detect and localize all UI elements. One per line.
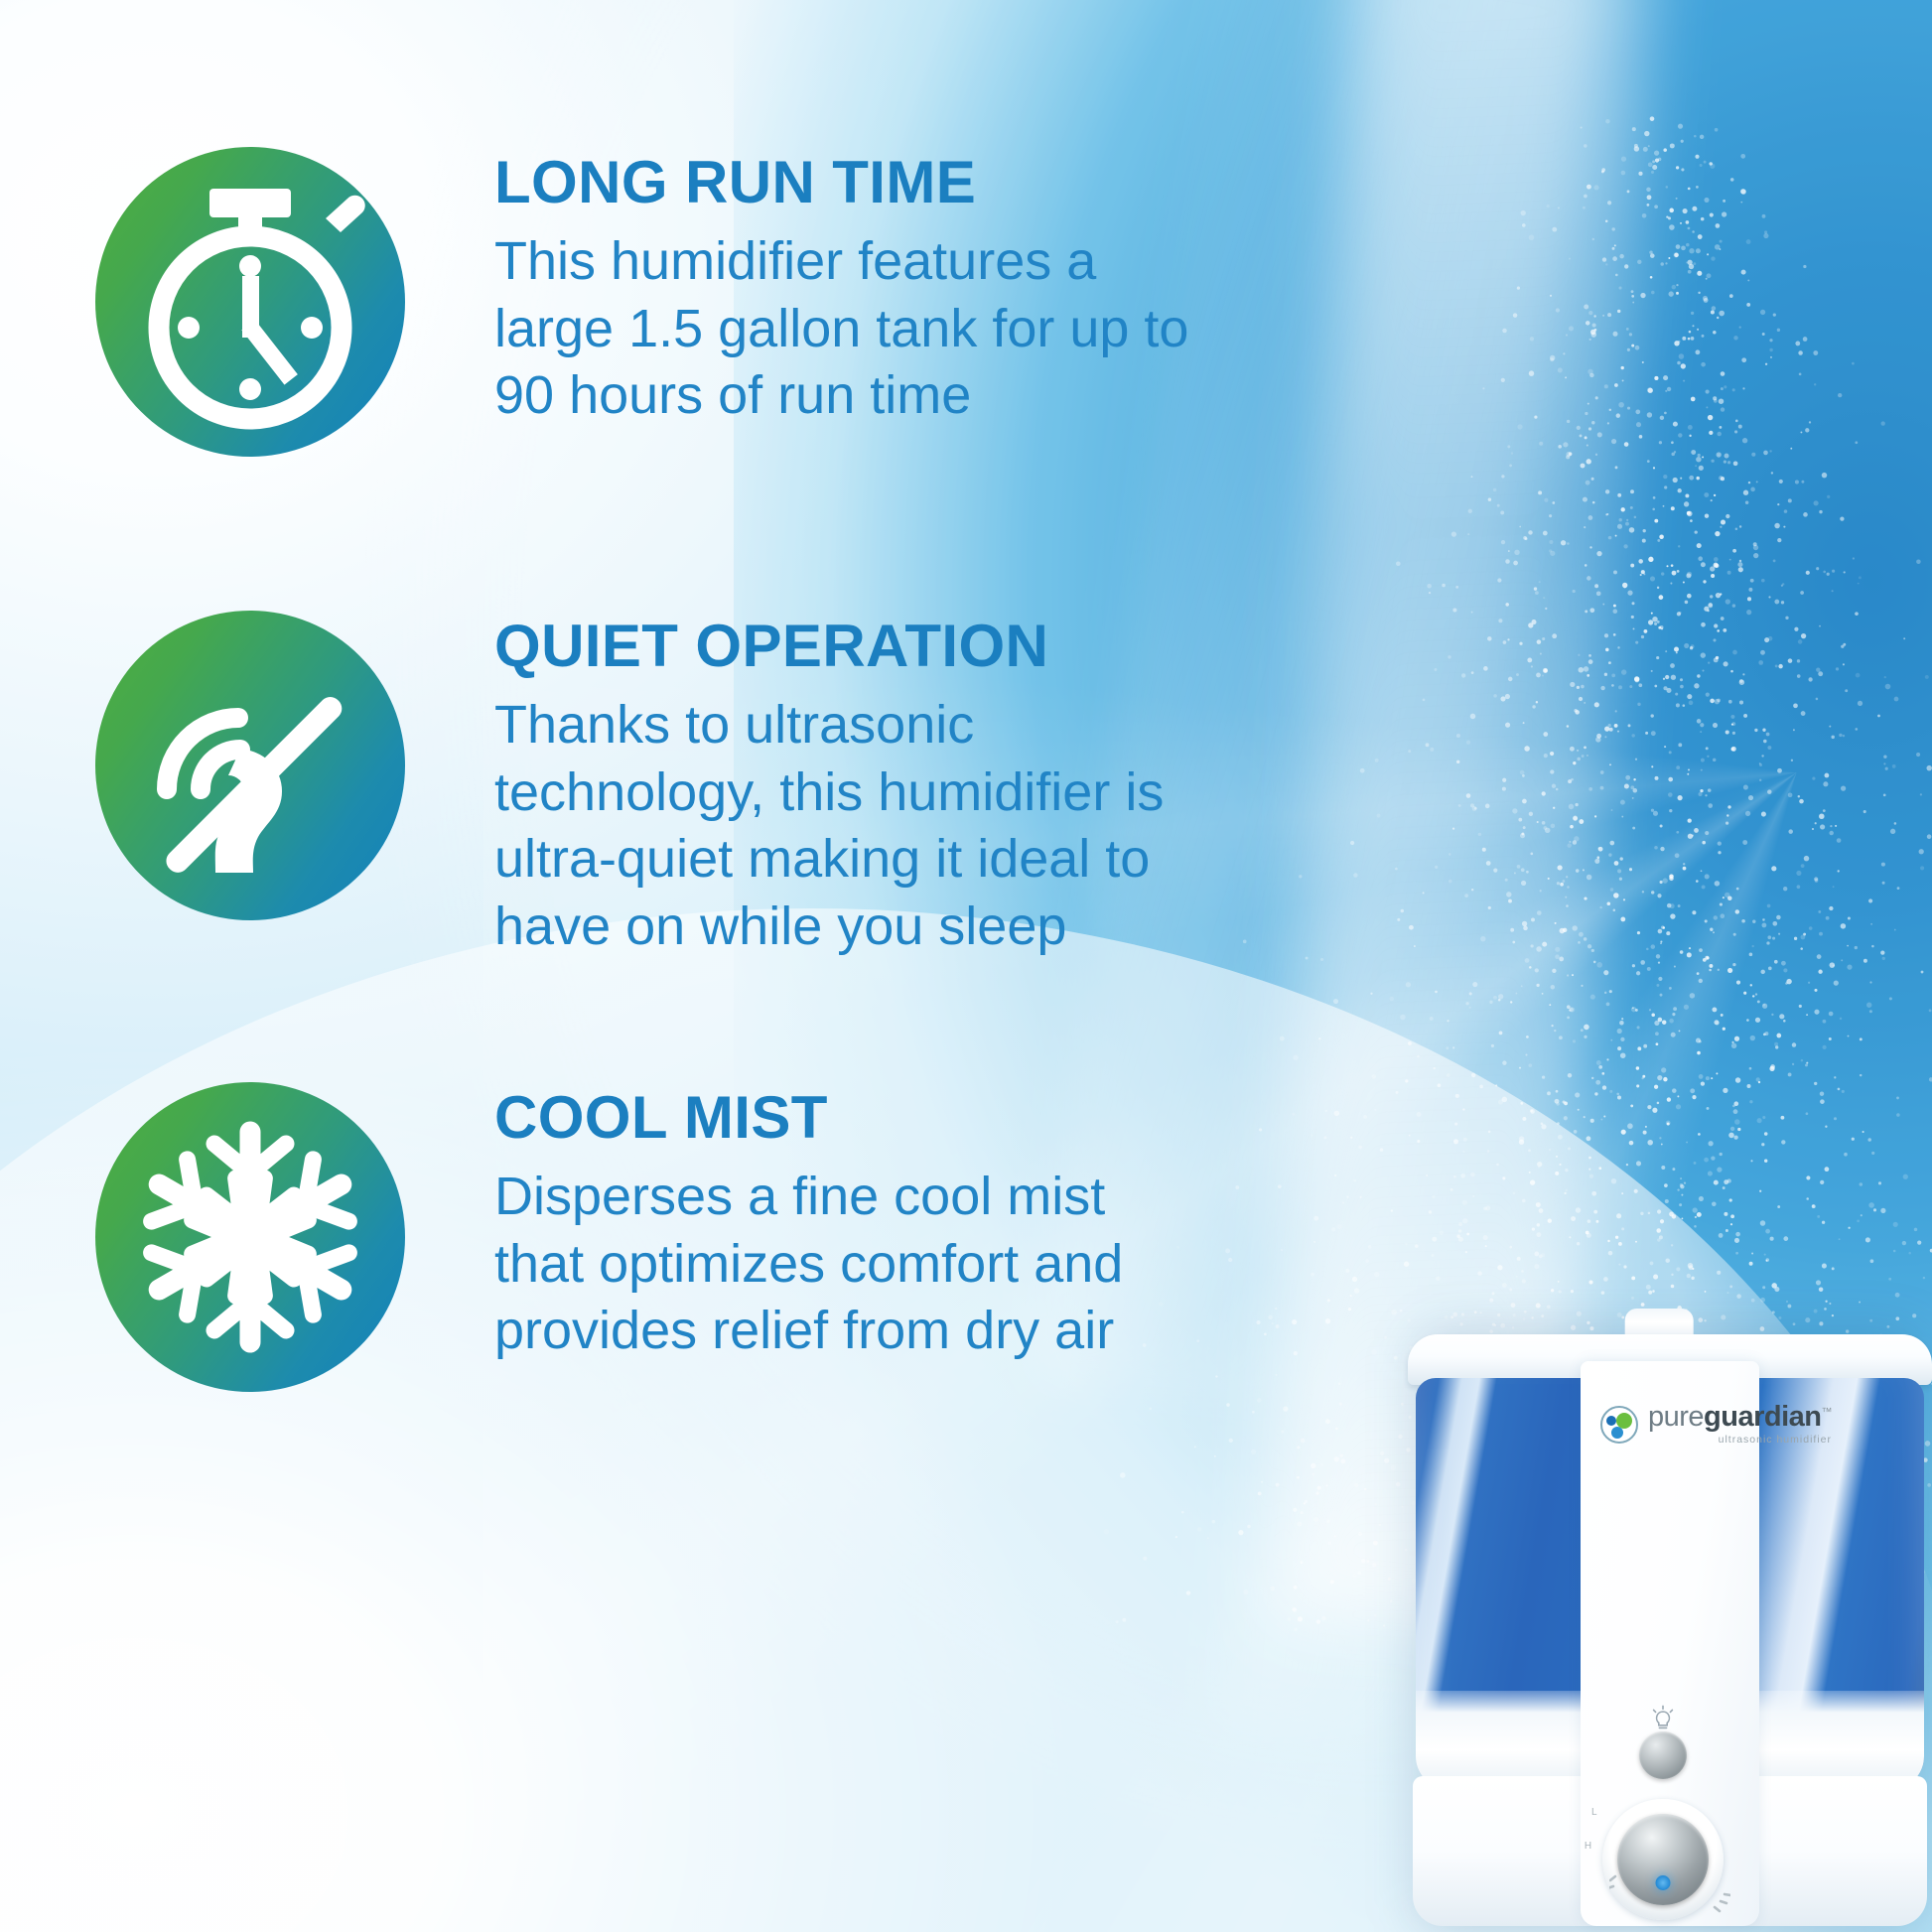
snowflake-icon: [95, 1082, 405, 1392]
brand-logo: pureguardian™ ultrasonic humidifier: [1600, 1403, 1832, 1446]
pureguardian-logo-mark: [1600, 1406, 1638, 1444]
power-led: [1655, 1875, 1670, 1890]
logo-dot-blue: [1611, 1427, 1623, 1439]
brand-trademark: ™: [1821, 1407, 1832, 1419]
feature-body: This humidifier features a large 1.5 gal…: [494, 228, 1209, 430]
brand-prefix: pure: [1648, 1401, 1704, 1433]
feature-body: Disperses a fine cool mist that optimize…: [494, 1164, 1209, 1365]
feature-text-block: COOL MIST Disperses a fine cool mist tha…: [494, 1082, 1209, 1365]
feature-title: LONG RUN TIME: [494, 153, 1209, 212]
feature-text-block: LONG RUN TIME This humidifier features a…: [494, 147, 1209, 430]
feature-text-block: QUIET OPERATION Thanks to ultrasonic tec…: [494, 611, 1209, 960]
light-button[interactable]: [1639, 1731, 1687, 1779]
feature-cool-mist: COOL MIST Disperses a fine cool mist tha…: [95, 1082, 1209, 1392]
brand-suffix: guardian: [1704, 1401, 1821, 1433]
feature-title: QUIET OPERATION: [494, 617, 1209, 676]
knob-tick-marks: [1609, 1799, 1730, 1920]
knob-min-label: L: [1591, 1807, 1597, 1818]
control-panel: pureguardian™ ultrasonic humidifier: [1581, 1361, 1759, 1925]
product-image-humidifier: pureguardian™ ultrasonic humidifier: [1408, 1309, 1932, 1932]
ear-muted-icon: [95, 611, 405, 920]
brand-tagline: ultrasonic humidifier: [1648, 1435, 1832, 1446]
feature-long-run-time: LONG RUN TIME This humidifier features a…: [95, 147, 1209, 457]
brand-wordmark: pureguardian™ ultrasonic humidifier: [1648, 1403, 1832, 1446]
stopwatch-icon: [95, 147, 405, 457]
feature-body: Thanks to ultrasonic technology, this hu…: [494, 692, 1209, 960]
feature-title: COOL MIST: [494, 1088, 1209, 1148]
logo-dot-darkblue: [1606, 1416, 1616, 1426]
feature-quiet-operation: QUIET OPERATION Thanks to ultrasonic tec…: [95, 611, 1209, 960]
knob-max-label: H: [1585, 1841, 1592, 1852]
